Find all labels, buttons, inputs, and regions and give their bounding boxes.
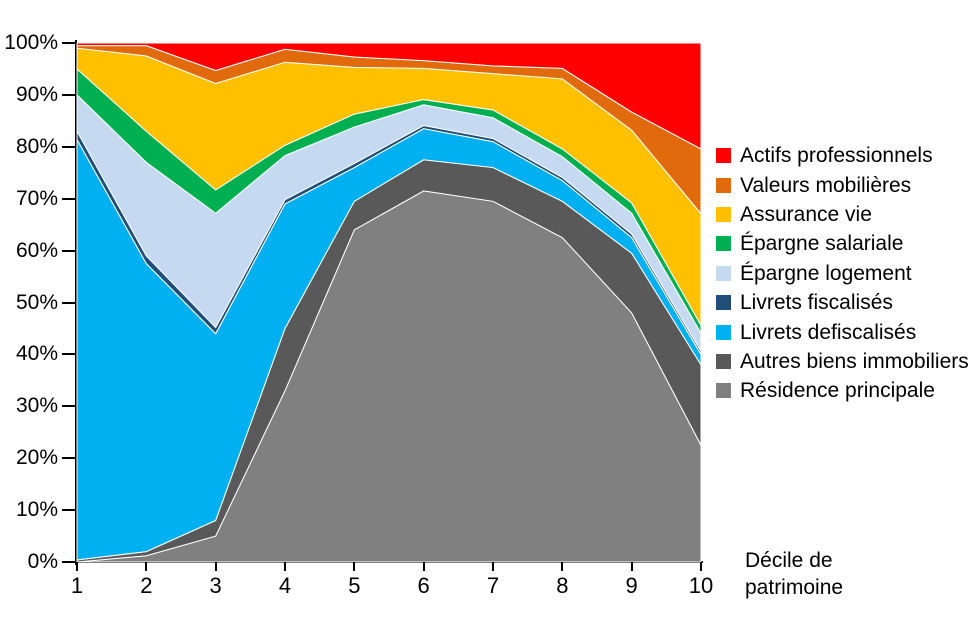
legend-item-label: Actifs professionnels	[740, 145, 933, 166]
x-axis-tick-label: 4	[265, 574, 305, 598]
x-axis-tick	[423, 562, 425, 571]
x-axis-tick	[76, 562, 78, 571]
x-axis-tick-label: 3	[196, 574, 236, 598]
legend-swatch-icon	[716, 354, 731, 369]
legend-swatch-icon	[716, 178, 731, 193]
x-axis-tick-label: 10	[681, 574, 721, 598]
x-axis-tick	[700, 562, 702, 571]
legend-swatch-icon	[716, 295, 731, 310]
legend-swatch-icon	[716, 207, 731, 222]
legend-item-label: Résidence principale	[740, 380, 935, 401]
chart-root: 0%10%20%30%40%50%60%70%80%90%100% 123456…	[0, 0, 978, 639]
legend-swatch-icon	[716, 148, 731, 163]
legend-item[interactable]: Livrets defiscalisés	[716, 317, 978, 346]
legend-item[interactable]: Autres biens immobiliers	[716, 347, 978, 376]
x-axis-title-line2: patrimoine	[745, 576, 843, 599]
legend-item-label: Autres biens immobiliers	[740, 351, 969, 372]
x-axis-tick-label: 5	[334, 574, 374, 598]
legend-item-label: Valeurs mobilières	[740, 175, 911, 196]
x-axis-title: Décile depatrimoine	[745, 547, 843, 601]
x-axis-tick-label: 8	[542, 574, 582, 598]
legend-item[interactable]: Valeurs mobilières	[716, 170, 978, 199]
x-axis-title-line1: Décile de	[745, 549, 833, 572]
x-axis-tick	[492, 562, 494, 571]
x-axis-tick-label: 6	[404, 574, 444, 598]
legend-item[interactable]: Actifs professionnels	[716, 141, 978, 170]
x-axis-tick	[284, 562, 286, 571]
legend-item-label: Livrets defiscalisés	[740, 322, 916, 343]
legend-item-label: Épargne logement	[740, 263, 912, 284]
legend-item[interactable]: Résidence principale	[716, 376, 978, 405]
x-axis-tick	[215, 562, 217, 571]
x-axis-tick-label: 1	[57, 574, 97, 598]
legend-item[interactable]: Épargne salariale	[716, 229, 978, 258]
legend-item[interactable]: Assurance vie	[716, 200, 978, 229]
x-axis-tick-label: 7	[473, 574, 513, 598]
x-axis-tick-label: 9	[612, 574, 652, 598]
legend-swatch-icon	[716, 266, 731, 281]
legend-item[interactable]: Épargne logement	[716, 259, 978, 288]
legend-swatch-icon	[716, 236, 731, 251]
legend-swatch-icon	[716, 383, 731, 398]
x-axis-tick	[145, 562, 147, 571]
legend-item[interactable]: Livrets fiscalisés	[716, 288, 978, 317]
chart-legend: Actifs professionnelsValeurs mobilièresA…	[716, 141, 978, 406]
legend-item-label: Assurance vie	[740, 204, 872, 225]
x-axis-tick	[631, 562, 633, 571]
x-axis-tick	[561, 562, 563, 571]
x-axis-tick	[353, 562, 355, 571]
legend-swatch-icon	[716, 325, 731, 340]
legend-item-label: Épargne salariale	[740, 233, 903, 254]
legend-item-label: Livrets fiscalisés	[740, 292, 893, 313]
x-axis-tick-label: 2	[126, 574, 166, 598]
